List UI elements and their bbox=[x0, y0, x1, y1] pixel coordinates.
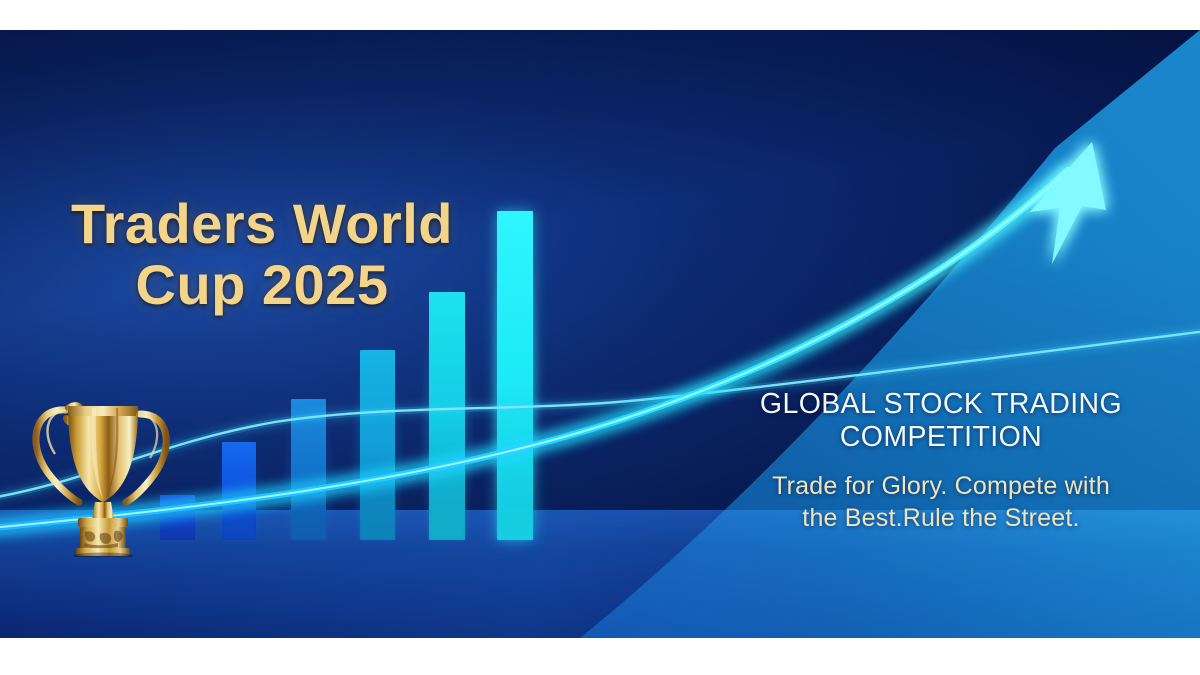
bar-reflection bbox=[497, 498, 533, 540]
bar-reflection bbox=[222, 498, 256, 540]
headline: GLOBAL STOCK TRADING COMPETITION bbox=[706, 388, 1176, 454]
letterbox-top bbox=[0, 0, 1200, 30]
artwork-stage: Traders World Cup 2025 GLOBAL STOCK TRAD… bbox=[0, 30, 1200, 638]
bar-3 bbox=[291, 399, 326, 540]
letterbox-bottom bbox=[0, 638, 1200, 675]
poster-canvas: Traders World Cup 2025 GLOBAL STOCK TRAD… bbox=[0, 0, 1200, 675]
page-title: Traders World Cup 2025 bbox=[52, 195, 472, 313]
headline-line-2: COMPETITION bbox=[706, 421, 1176, 454]
tagline-line-1: Trade for Glory. Compete with bbox=[706, 470, 1176, 502]
tagline-line-2: the Best.Rule the Street. bbox=[706, 502, 1176, 534]
bar-body bbox=[497, 211, 533, 540]
bar-reflection bbox=[429, 498, 465, 540]
title-line-1: Traders World bbox=[52, 195, 472, 253]
bar-4 bbox=[360, 350, 395, 540]
bar-6 bbox=[497, 211, 533, 540]
bar-2 bbox=[222, 442, 256, 540]
tagline: Trade for Glory. Compete with the Best.R… bbox=[706, 470, 1176, 534]
bar-reflection bbox=[291, 498, 326, 540]
trophy-icon bbox=[22, 382, 182, 557]
bar-5 bbox=[429, 292, 465, 540]
headline-line-1: GLOBAL STOCK TRADING bbox=[706, 388, 1176, 421]
bar-reflection bbox=[360, 498, 395, 540]
title-line-2: Cup 2025 bbox=[52, 256, 472, 314]
right-text-block: GLOBAL STOCK TRADING COMPETITION Trade f… bbox=[706, 388, 1176, 534]
